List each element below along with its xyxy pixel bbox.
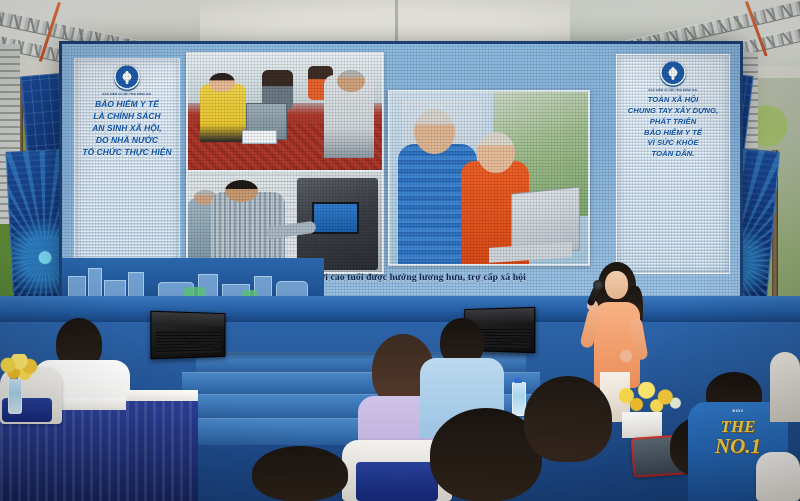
slogan-line: TOÀN DÂN. (621, 149, 725, 160)
led-left-slogan-card: BẢO HIỂM XÃ HỘI TỈNH ĐỒNG NAI BẢO HIỂM Y… (74, 58, 180, 272)
water-bottle-left (8, 378, 22, 414)
flower-arrangement-stage (612, 382, 684, 416)
microphone-head (593, 280, 603, 290)
slogan-line: DO NHÀ NƯỚC (79, 135, 175, 147)
slogan-line: CHUNG TAY XÂY DỰNG, (621, 106, 725, 117)
flower-vase (622, 412, 662, 438)
bhxh-logo-icon (660, 61, 686, 87)
slogan-line: VÌ SỨC KHỎE (621, 138, 725, 149)
stage-monitor-left (150, 311, 225, 360)
led-right-slogan-card: BẢO HIỂM XÃ HỘI TỈNH ĐỒNG NAI TOÀN XÃ HỘ… (616, 54, 730, 274)
photo-elderly-couple-laptop (388, 90, 590, 266)
photo-service-counter (186, 52, 384, 172)
presenter-hand-right (620, 350, 632, 362)
stage-front-fascia (0, 296, 800, 322)
slogan-line: TỔ CHỨC THỰC HIỆN (79, 147, 175, 159)
slogan-line: PHÁT TRIỂN (621, 117, 725, 128)
presenter-face (605, 271, 628, 299)
led-right-slogan: TOÀN XÃ HỘI CHUNG TAY XÂY DỰNG, PHÁT TRI… (617, 92, 729, 166)
chair-bow-center (356, 462, 438, 501)
audience-head-foreground-left (252, 446, 348, 501)
front-table-skirt-left-2 (126, 401, 198, 501)
slogan-line: BẢO HIỂM Y TẾ (79, 99, 175, 111)
led-left-slogan: BẢO HIỂM Y TẾ LÀ CHÍNH SÁCH AN SINH XÃ H… (75, 96, 179, 165)
water-bottle-cap-center (514, 378, 522, 383)
stage-skyline-art (62, 258, 324, 300)
audience-torso-far-right (770, 352, 800, 422)
event-photo-scene: BẢO HIỂM XÃ HỘI TỈNH ĐỒNG NAI BẢO HIỂM Y… (0, 0, 800, 501)
slogan-line: BẢO HIỂM Y TẾ (621, 128, 725, 139)
chair-right (756, 452, 800, 501)
flowers-left (0, 354, 40, 382)
front-table-top-left-2 (126, 390, 198, 401)
audience-head-right-center (524, 376, 612, 462)
slogan-line: LÀ CHÍNH SÁCH (79, 111, 175, 123)
bhxh-logo-icon (114, 65, 140, 91)
slogan-line: TOÀN XÃ HỘI (621, 95, 725, 106)
slogan-line: AN SINH XÃ HỘI, (79, 123, 175, 135)
